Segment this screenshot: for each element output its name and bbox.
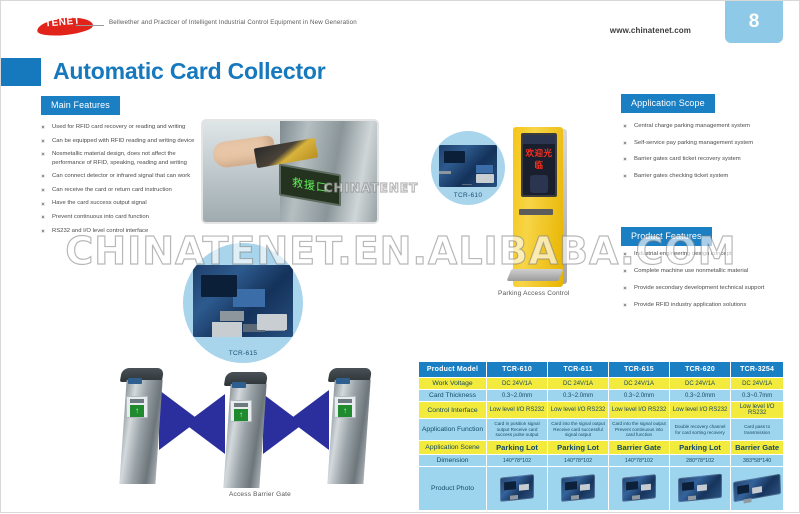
table-cell: Parking Lot (669, 441, 730, 455)
table-cell: DC 24V/1A (487, 378, 548, 390)
table-cell: DC 24V/1A (609, 378, 670, 390)
title-accent-block (1, 58, 41, 86)
table-cell: Card into the signal output Receive card… (548, 419, 609, 441)
gate-card-slot (234, 403, 248, 407)
product-photo-icon (622, 474, 656, 502)
photo-parking-kiosk: 欢迎光临 (499, 119, 577, 289)
table-cell-photo (669, 467, 730, 511)
table-cell: Low level I/O RS232 (731, 402, 784, 419)
list-item: Provide RFID industry application soluti… (623, 301, 791, 310)
list-item: Can be equipped with RFID reading and wr… (41, 137, 206, 146)
table-row: Work Voltage DC 24V/1A DC 24V/1A DC 24V/… (419, 378, 784, 390)
table-cell: Low level I/O RS232 (487, 402, 548, 419)
specification-table: Product Model TCR-610 TCR-611 TCR-615 TC… (418, 361, 784, 511)
table-cell: DC 24V/1A (731, 378, 784, 390)
product-photo-icon (500, 474, 534, 502)
product-features-list: Industrial engineering design concept Co… (623, 250, 791, 318)
kiosk-base-tray (507, 269, 564, 281)
table-cell: 0.3~2.0mm (487, 390, 548, 402)
barrier-gate-unit: ↑ (119, 368, 165, 486)
table-cell: 383*58*140 (731, 455, 784, 467)
table-cell: Parking Lot (548, 441, 609, 455)
row-label: Application Function (419, 419, 487, 441)
kiosk-card-slot (519, 209, 553, 215)
gate-reader-panel: ↑ (126, 396, 148, 418)
list-item: Have the card success output signal (41, 199, 206, 208)
brochure-page: TENET Bellwether and Practicer of Intell… (0, 0, 800, 513)
list-item: Can connect detector or infrared signal … (41, 172, 206, 181)
section-chip-main-features: Main Features (41, 96, 120, 115)
list-item: Complete machine use nonmetallic materia… (623, 267, 791, 276)
photo-rfid-card-reader: 救援口 (201, 119, 379, 224)
list-item: Barrier gates card ticket recovery syste… (623, 155, 791, 164)
gate-card-slot (130, 399, 144, 403)
section-chip-application-scope: Application Scope (621, 94, 715, 113)
gate-brand-badge (128, 378, 142, 384)
screen-keypad (530, 175, 548, 193)
section-chip-product-features: Product Features (621, 227, 712, 246)
table-cell: 280*78*102 (669, 455, 730, 467)
page-number-badge: 8 (725, 1, 783, 43)
table-cell: DC 24V/1A (669, 378, 730, 390)
list-item: Self-service pay parking management syst… (623, 139, 791, 148)
kiosk-display-screen: 欢迎光临 (521, 133, 557, 197)
photo-barrier-gates: ↑ ↑ ↑ (119, 366, 387, 488)
table-cell: 0.3~0.7mm (731, 390, 784, 402)
list-item: Barrier gates checking ticket system (623, 172, 791, 181)
row-label: Dimension (419, 455, 487, 467)
list-item: Nosmetallic material design, does not af… (41, 150, 206, 167)
table-cell-photo (609, 467, 670, 511)
table-cell: Barrier Gate (731, 441, 784, 455)
table-row: Control Interface Low level I/O RS232 Lo… (419, 402, 784, 419)
table-cell: Barrier Gate (609, 441, 670, 455)
row-label: Product Photo (419, 467, 487, 511)
gate-reader-panel: ↑ (334, 396, 356, 418)
table-cell: DC 24V/1A (548, 378, 609, 390)
table-cell: Card into the signal output Prevent cont… (609, 419, 670, 441)
gate-wing-icon (289, 390, 329, 450)
table-row: Product Photo (419, 467, 784, 511)
table-cell: 140*78*102 (609, 455, 670, 467)
table-header-row: Product Model TCR-610 TCR-611 TCR-615 TC… (419, 362, 784, 378)
logo-divider-rule (76, 25, 104, 26)
table-cell: Low level I/O RS232 (548, 402, 609, 419)
table-cell: Double recovery channel for card sorting… (669, 419, 730, 441)
table-row: Application Function Card in position si… (419, 419, 784, 441)
page-header: TENET Bellwether and Practicer of Intell… (1, 1, 800, 49)
table-row: Card Thickness 0.3~2.0mm 0.3~2.0mm 0.3~2… (419, 390, 784, 402)
product-photo-icon (678, 473, 722, 502)
barrier-gate-unit: ↑ (223, 372, 269, 490)
website-url: www.chinatenet.com (610, 26, 691, 35)
row-label: Application Scene (419, 441, 487, 455)
row-label: Work Voltage (419, 378, 487, 390)
exit-sign-text: 救援口 (292, 174, 328, 196)
barrier-gate-unit: ↑ (327, 368, 373, 486)
screen-title-text: 欢迎光临 (523, 147, 555, 171)
column-header: TCR-611 (548, 362, 609, 378)
row-label: Control Interface (419, 402, 487, 419)
column-header: Product Model (419, 362, 487, 378)
gate-card-slot (338, 399, 352, 403)
list-item: Provide secondary development technical … (623, 284, 791, 293)
table-cell: Card in position signal output Receive c… (487, 419, 548, 441)
company-tagline: Bellwether and Practicer of Intelligent … (109, 19, 357, 26)
column-header: TCR-3254 (731, 362, 784, 378)
table-row: Application Scene Parking Lot Parking Lo… (419, 441, 784, 455)
table-cell-photo (548, 467, 609, 511)
gate-arrow-icon: ↑ (234, 409, 248, 421)
row-label: Card Thickness (419, 390, 487, 402)
page-title: Automatic Card Collector (53, 58, 326, 85)
gate-reader-panel: ↑ (230, 400, 252, 422)
screen-header-bar (523, 135, 555, 144)
callout-label: TCR-615 (229, 350, 257, 363)
list-item: Can receive the card or return card inst… (41, 186, 206, 195)
gate-brand-badge (232, 382, 246, 388)
list-item: Central charge parking management system (623, 122, 791, 131)
callout-tcr-615: TCR-615 (183, 243, 303, 363)
table-cell: 140*78*102 (548, 455, 609, 467)
table-cell: Parking Lot (487, 441, 548, 455)
gate-arrow-icon: ↑ (130, 405, 144, 417)
table-cell: Card pass to transmission (731, 419, 784, 441)
table-cell: Low level I/O RS232 (669, 402, 730, 419)
callout-tcr-610: TCR-610 (431, 131, 505, 205)
column-header: TCR-610 (487, 362, 548, 378)
table-cell-photo (731, 467, 784, 511)
list-item: Used for RFID card recovery or reading a… (41, 123, 206, 132)
caption-access-barrier-gate: Access Barrier Gate (229, 491, 291, 498)
table-cell: 0.3~2.0mm (669, 390, 730, 402)
table-cell: Low level I/O RS232 (609, 402, 670, 419)
pcb-board-610 (439, 145, 497, 187)
column-header: TCR-615 (609, 362, 670, 378)
main-features-list: Used for RFID card recovery or reading a… (41, 123, 206, 240)
screen-indicator-icon (536, 196, 542, 197)
callout-label: TCR-610 (454, 192, 482, 205)
table-cell: 0.3~2.0mm (548, 390, 609, 402)
list-item: RS232 and I/O level control interface (41, 227, 206, 236)
gate-arrow-icon: ↑ (338, 405, 352, 417)
table-cell-photo (487, 467, 548, 511)
table-cell: 0.3~2.0mm (609, 390, 670, 402)
column-header: TCR-620 (669, 362, 730, 378)
pcb-board-615 (193, 265, 293, 337)
application-scope-list: Central charge parking management system… (623, 122, 791, 188)
caption-parking-access-control: Parking Access Control (498, 290, 570, 297)
table-row: Dimension 140*78*102 140*78*102 140*78*1… (419, 455, 784, 467)
table-cell: 140*78*102 (487, 455, 548, 467)
product-photo-icon (733, 473, 781, 502)
list-item: Prevent continuous into card function (41, 213, 206, 222)
gate-brand-badge (336, 378, 350, 384)
list-item: Industrial engineering design concept (623, 250, 791, 259)
gate-wing-icon (185, 394, 225, 454)
product-photo-icon (561, 474, 595, 502)
